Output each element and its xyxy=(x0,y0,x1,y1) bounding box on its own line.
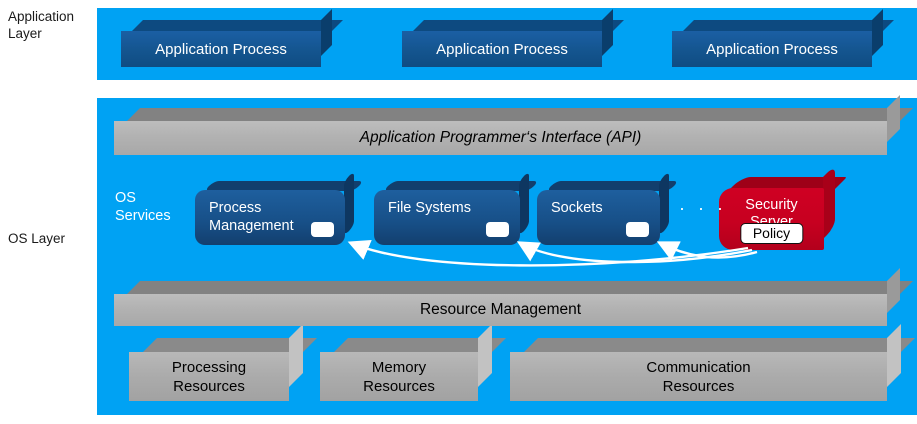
block-side-face xyxy=(872,9,883,56)
application-process-block-1[interactable]: Application Process xyxy=(121,31,321,67)
block-side-face xyxy=(478,324,492,387)
resource-block-processing[interactable]: Processing Resources xyxy=(129,352,289,401)
security-server-block[interactable]: Security Server Policy xyxy=(719,188,824,250)
block-side-face xyxy=(887,95,900,142)
block-side-face xyxy=(659,171,669,236)
block-side-face xyxy=(887,268,900,313)
block-top-face xyxy=(132,20,343,31)
os-services-row-label: OS Services xyxy=(115,189,171,225)
file-systems-badge[interactable] xyxy=(486,222,509,237)
block-side-face xyxy=(344,171,354,236)
application-process-label-3: Application Process xyxy=(672,31,872,67)
os-layer-panel: Application Programmer‘s Interface (API)… xyxy=(97,98,917,415)
resource-block-memory[interactable]: Memory Resources xyxy=(320,352,478,401)
resource-label-communication: Communication Resources xyxy=(510,352,887,401)
os-layer-caption: OS Layer xyxy=(8,230,96,247)
security-server-policy[interactable]: Policy xyxy=(740,223,803,244)
service-block-process-management[interactable]: Process Management xyxy=(195,190,345,245)
block-side-face xyxy=(519,171,529,236)
resource-block-communication[interactable]: Communication Resources xyxy=(510,352,887,401)
diagram-canvas: Application Layer OS Layer Application P… xyxy=(0,0,917,424)
resource-label-memory: Memory Resources xyxy=(320,352,478,401)
block-side-face xyxy=(289,324,303,387)
block-top-face xyxy=(524,338,915,352)
sockets-badge[interactable] xyxy=(626,222,649,237)
block-side-face xyxy=(823,165,835,239)
application-process-block-3[interactable]: Application Process xyxy=(672,31,872,67)
resource-label-processing: Processing Resources xyxy=(129,352,289,401)
block-top-face xyxy=(683,20,894,31)
block-top-face xyxy=(413,20,624,31)
block-side-face xyxy=(887,324,901,387)
block-side-face xyxy=(321,9,332,56)
application-layer-caption: Application Layer xyxy=(8,8,96,42)
application-layer-panel: Application Process Application Process … xyxy=(97,8,917,80)
block-side-face xyxy=(602,9,613,56)
block-top-face xyxy=(127,108,913,121)
application-process-label-2: Application Process xyxy=(402,31,602,67)
application-process-label-1: Application Process xyxy=(121,31,321,67)
process-management-badge[interactable] xyxy=(311,222,334,237)
resource-management-bar[interactable]: Resource Management xyxy=(114,294,887,326)
ellipsis-more-services: · · · xyxy=(679,198,727,219)
api-bar-label: Application Programmer‘s Interface (API) xyxy=(114,121,887,155)
block-top-face xyxy=(127,281,913,294)
application-process-block-2[interactable]: Application Process xyxy=(402,31,602,67)
service-block-sockets[interactable]: Sockets xyxy=(537,190,660,245)
resource-management-label: Resource Management xyxy=(114,294,887,326)
api-bar[interactable]: Application Programmer‘s Interface (API) xyxy=(114,121,887,155)
service-block-file-systems[interactable]: File Systems xyxy=(374,190,520,245)
